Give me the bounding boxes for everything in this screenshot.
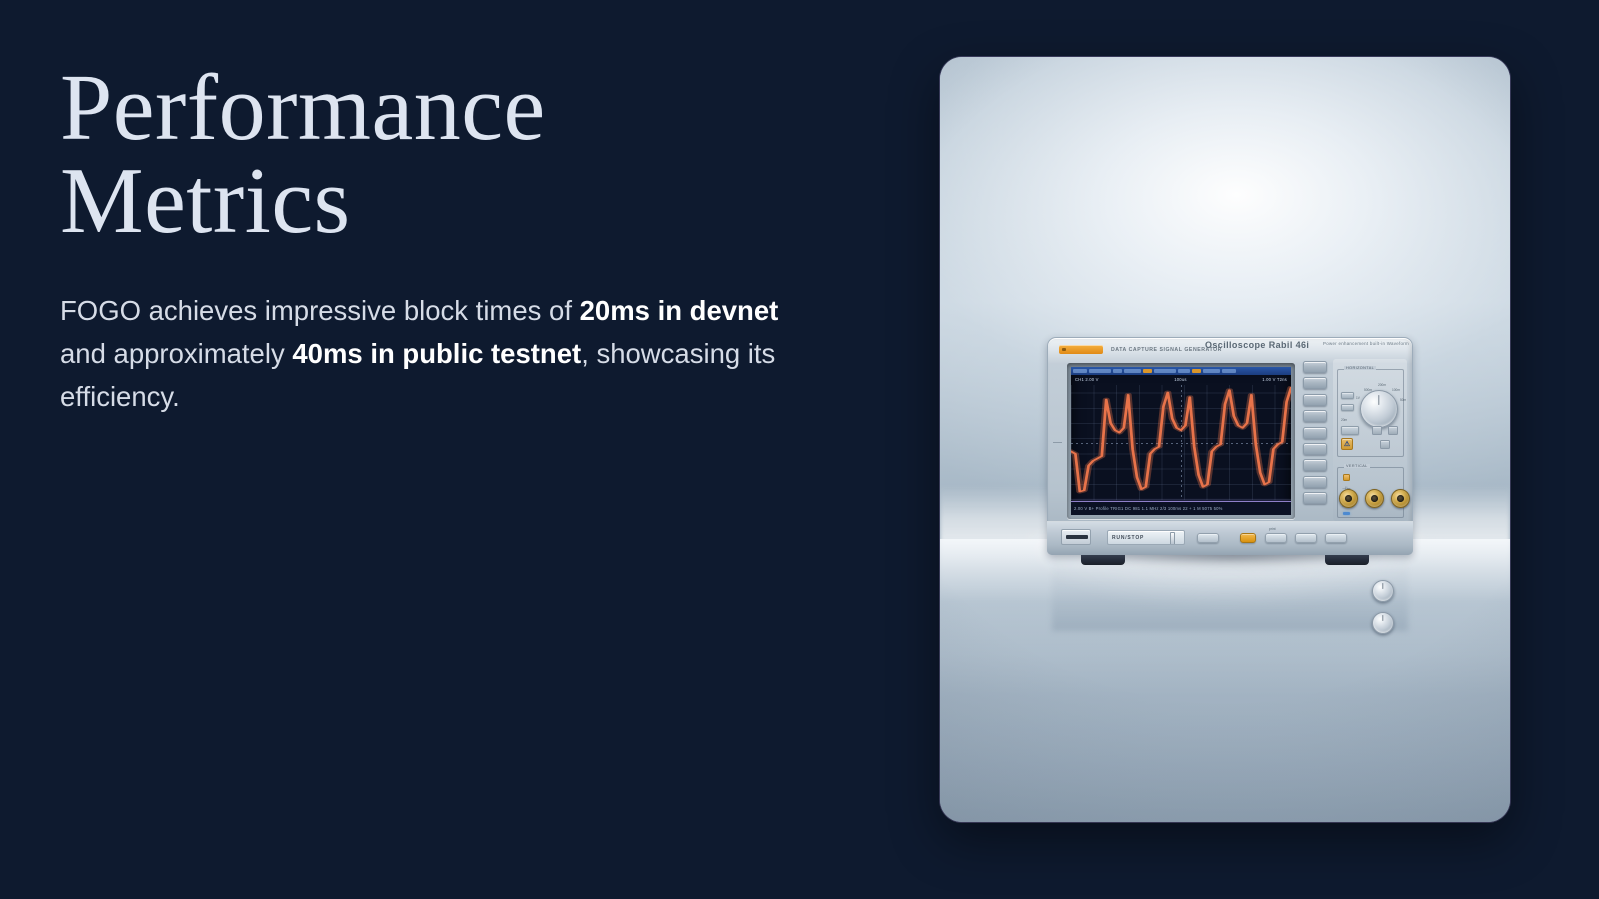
left-tick-mark: [1053, 442, 1062, 443]
bnc-connector-ext-trig[interactable]: [1391, 489, 1410, 508]
front-button-print[interactable]: [1265, 533, 1287, 543]
keypad-glyphs: RUN/STOP: [1112, 535, 1144, 541]
display-screen: CH1 2.00 V 100us 1.00 V T2ns 2.00: [1071, 367, 1291, 515]
subtitle-segment-2: and approximately: [60, 338, 292, 369]
keypad-strip[interactable]: RUN/STOP: [1107, 530, 1185, 545]
front-panel-bar: RUN/STOP print: [1047, 521, 1413, 555]
aux-button-2[interactable]: [1388, 426, 1398, 435]
subtitle-paragraph: FOGO achieves impressive block times of …: [60, 290, 800, 419]
softkey-button-2[interactable]: [1303, 377, 1327, 389]
display-bezel: CH1 2.00 V 100us 1.00 V T2ns 2.00: [1067, 363, 1295, 519]
front-button-default[interactable]: [1197, 533, 1219, 543]
channel-1-indicator-icon: [1343, 474, 1350, 481]
front-button-single[interactable]: [1295, 533, 1317, 543]
vertical-group-title: VERTICAL: [1344, 464, 1370, 468]
screen-status-bar: 2.00 V B+ Profile TRIG1 DC 981 1.1 MHz 2…: [1071, 502, 1291, 515]
menu-seg-4: [1124, 369, 1141, 373]
menu-seg-7: [1178, 369, 1190, 373]
softkey-button-8[interactable]: [1303, 476, 1327, 488]
bnc-connector-ch2[interactable]: [1365, 489, 1384, 508]
subtitle-bold-1: 20ms in devnet: [580, 295, 779, 326]
scale-label-3: 200m: [1378, 383, 1386, 387]
brand-logo-icon: [1059, 345, 1103, 354]
aux-button-3[interactable]: [1380, 440, 1390, 449]
menu-seg-8-highlight: [1192, 369, 1201, 373]
media-slot-icon[interactable]: [1061, 529, 1091, 545]
front-button-run-stop[interactable]: [1240, 533, 1256, 543]
menu-seg-9: [1203, 369, 1220, 373]
trigger-label: 20m: [1341, 418, 1347, 422]
corner-text: Power enhancement built-in Waveform: [1323, 341, 1409, 346]
scale-label-4: 100m: [1392, 388, 1400, 392]
softkey-button-7[interactable]: [1303, 459, 1327, 471]
subtitle-segment-1: FOGO achieves impressive block times of: [60, 295, 580, 326]
horizontal-control-group: HORIZONTAL 1V 500m 200m 100m 50m 20m ⚠: [1337, 369, 1404, 457]
aux-button-1[interactable]: [1372, 426, 1382, 435]
softkey-button-5[interactable]: [1303, 427, 1327, 439]
vertical-scale-knob-2[interactable]: [1372, 612, 1394, 634]
front-button-auto[interactable]: [1325, 533, 1347, 543]
slide-root: Performance Metrics FOGO achieves impres…: [0, 0, 1599, 899]
text-column: Performance Metrics FOGO achieves impres…: [60, 62, 820, 419]
softkey-button-4[interactable]: [1303, 410, 1327, 422]
horizontal-menu-button[interactable]: [1341, 392, 1354, 399]
softkey-button-9[interactable]: [1303, 492, 1327, 504]
oscilloscope-image-card: DATA CAPTURE SIGNAL GENERATOR Oscillosco…: [940, 57, 1510, 822]
warning-indicator-icon: ⚠: [1341, 438, 1353, 450]
softkey-column: [1303, 361, 1327, 504]
horizontal-position-knob[interactable]: [1360, 390, 1398, 428]
page-title: Performance Metrics: [60, 62, 820, 248]
menu-seg-3: [1113, 369, 1122, 373]
subtitle-bold-2: 40ms in public testnet: [292, 338, 581, 369]
softkey-button-6[interactable]: [1303, 443, 1327, 455]
horizontal-group-title: HORIZONTAL: [1344, 366, 1376, 370]
softkey-button-3[interactable]: [1303, 394, 1327, 406]
menu-seg-6: [1154, 369, 1176, 373]
scale-label-1: 1V: [1356, 396, 1360, 400]
scale-label-5: 50m: [1400, 398, 1406, 402]
keypad-slider-handle[interactable]: [1170, 532, 1175, 545]
model-text: Oscilloscope Rabil 46i: [1205, 340, 1309, 350]
screen-menu-bar[interactable]: [1071, 367, 1291, 375]
bnc-connector-ch1[interactable]: [1339, 489, 1358, 508]
trigger-level-button[interactable]: [1341, 426, 1359, 435]
menu-seg-10: [1222, 369, 1236, 373]
waveform-trace: [1071, 383, 1291, 501]
menu-seg-1: [1073, 369, 1087, 373]
oscilloscope-device: DATA CAPTURE SIGNAL GENERATOR Oscillosco…: [1047, 337, 1413, 555]
front-button-print-label: print: [1269, 527, 1276, 531]
channel-status-led-icon: [1343, 512, 1350, 515]
softkey-button-1[interactable]: [1303, 361, 1327, 373]
menu-seg-5-highlight: [1143, 369, 1152, 373]
vertical-scale-knob-1[interactable]: [1372, 580, 1394, 602]
device-reflection: [1052, 557, 1408, 631]
menu-seg-2: [1089, 369, 1111, 373]
status-text: 2.00 V B+ Profile TRIG1 DC 981 1.1 MHz 2…: [1074, 506, 1223, 511]
horizontal-delay-button[interactable]: [1341, 404, 1354, 411]
